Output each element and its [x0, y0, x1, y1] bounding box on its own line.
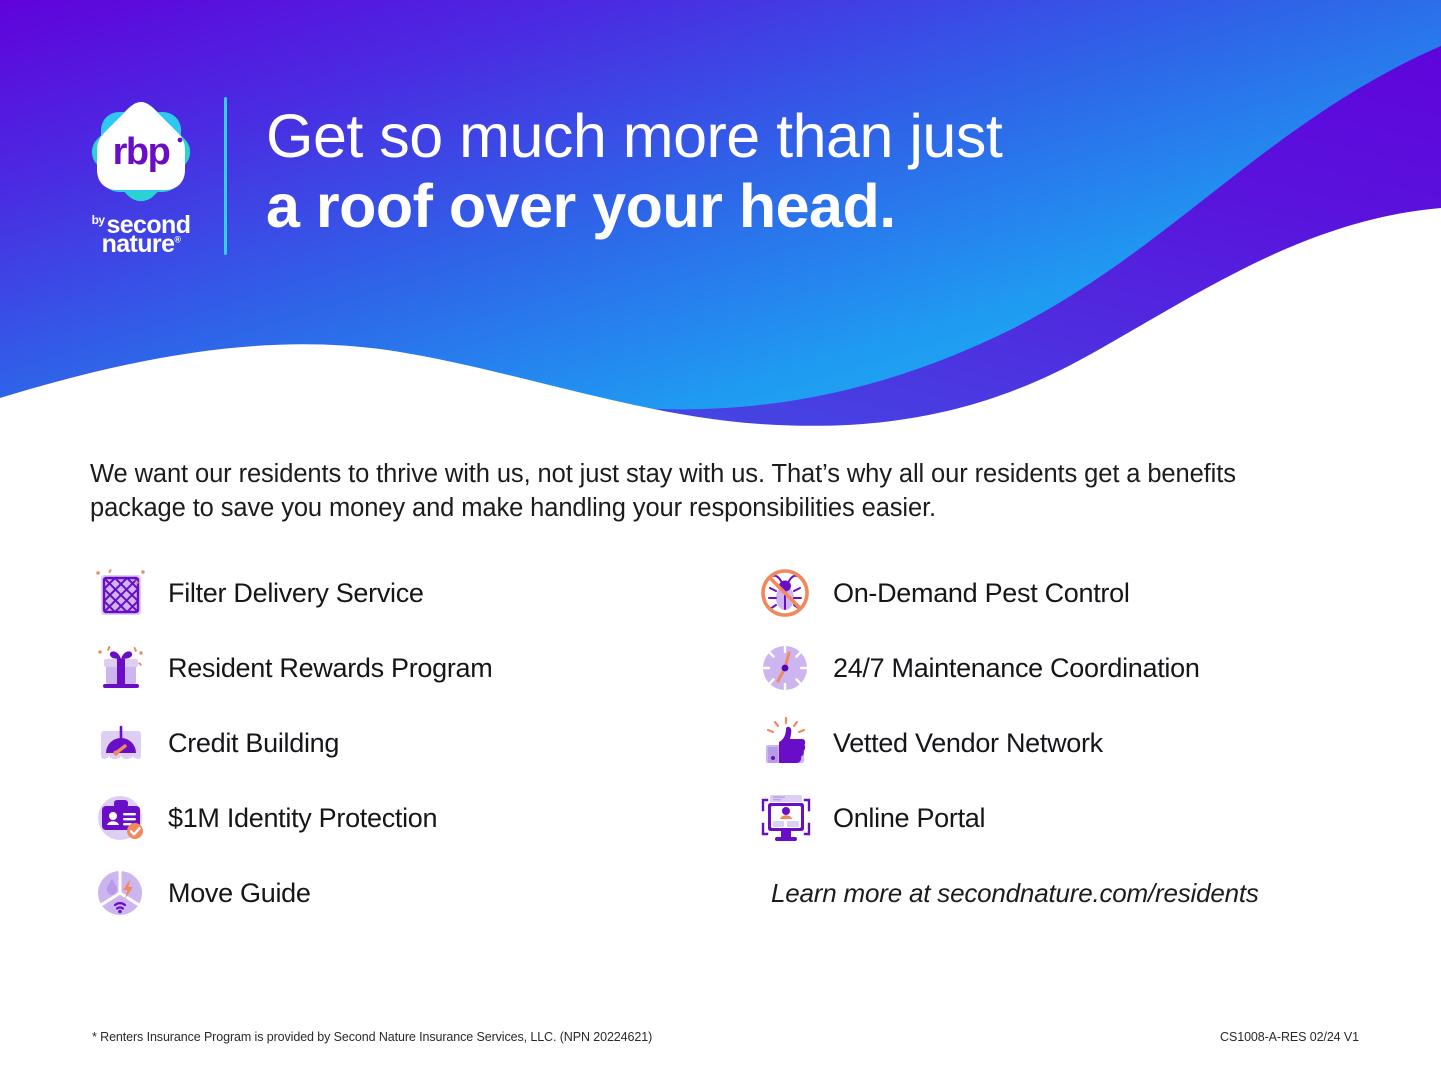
- logo-byline-by: by: [92, 215, 105, 226]
- rbp-house-rosette-logo: rbp: [87, 96, 195, 206]
- gift-box-icon: [90, 638, 152, 700]
- benefit-item-move-guide: Move Guide: [90, 856, 755, 931]
- benefits-column-right: On-Demand Pest Control: [755, 556, 1360, 931]
- logo-byline: bysecond nature®: [92, 214, 191, 256]
- benefit-item-pest-control: On-Demand Pest Control: [755, 556, 1360, 631]
- hero-divider: [224, 97, 227, 255]
- utilities-water-power-wifi-icon: [90, 863, 152, 925]
- benefit-item-resident-rewards-program: Resident Rewards Program: [90, 631, 755, 706]
- benefit-label: Move Guide: [168, 880, 311, 907]
- benefit-label: 24/7 Maintenance Coordination: [833, 655, 1200, 682]
- clock-icon: [755, 638, 817, 700]
- rbp-logo-lockup: rbp bysecond nature®: [86, 96, 196, 256]
- marketing-flyer: rbp bysecond nature® Get so much more th…: [0, 0, 1441, 1080]
- no-pest-bug-icon: [755, 563, 817, 625]
- benefit-label: $1M Identity Protection: [168, 805, 437, 832]
- benefit-label: Credit Building: [168, 730, 339, 757]
- headline-line-1: Get so much more than just: [266, 104, 1002, 168]
- benefit-item-online-portal: Online Portal: [755, 781, 1360, 856]
- logo-byline-registered: ®: [174, 235, 180, 245]
- benefit-label: Resident Rewards Program: [168, 655, 492, 682]
- benefits-column-left: Filter Delivery Service: [90, 556, 755, 931]
- headline-line-2: a roof over your head.: [266, 174, 1002, 240]
- id-card-shield-check-icon: [90, 788, 152, 850]
- benefit-label: Filter Delivery Service: [168, 580, 424, 607]
- thumbs-up-icon: [755, 713, 817, 775]
- intro-paragraph: We want our residents to thrive with us,…: [90, 458, 1320, 526]
- logo-byline-nature: nature®: [92, 233, 191, 256]
- svg-text:rbp: rbp: [113, 131, 170, 173]
- insurance-footnote: * Renters Insurance Program is provided …: [92, 1030, 652, 1044]
- benefit-label: Vetted Vendor Network: [833, 730, 1103, 757]
- document-code: CS1008-A-RES 02/24 V1: [1220, 1030, 1359, 1044]
- air-filter-icon: [90, 563, 152, 625]
- benefit-item-credit-building: Credit Building: [90, 706, 755, 781]
- hero-headline: Get so much more than just a roof over y…: [266, 104, 1002, 240]
- benefit-label: On-Demand Pest Control: [833, 580, 1130, 607]
- benefit-item-vetted-vendor-network: Vetted Vendor Network: [755, 706, 1360, 781]
- benefit-item-maintenance-coordination: 24/7 Maintenance Coordination: [755, 631, 1360, 706]
- benefit-item-identity-protection: $1M Identity Protection: [90, 781, 755, 856]
- benefit-label: Online Portal: [833, 805, 985, 832]
- footer: * Renters Insurance Program is provided …: [0, 1030, 1441, 1054]
- credit-gauge-stars-icon: [90, 713, 152, 775]
- benefit-item-filter-delivery-service: Filter Delivery Service: [90, 556, 755, 631]
- desktop-monitor-icon: [755, 788, 817, 850]
- hero-banner: rbp bysecond nature® Get so much more th…: [0, 0, 1441, 440]
- learn-more-text[interactable]: Learn more at secondnature.com/residents: [755, 856, 1360, 931]
- benefits-section: Filter Delivery Service: [90, 556, 1360, 931]
